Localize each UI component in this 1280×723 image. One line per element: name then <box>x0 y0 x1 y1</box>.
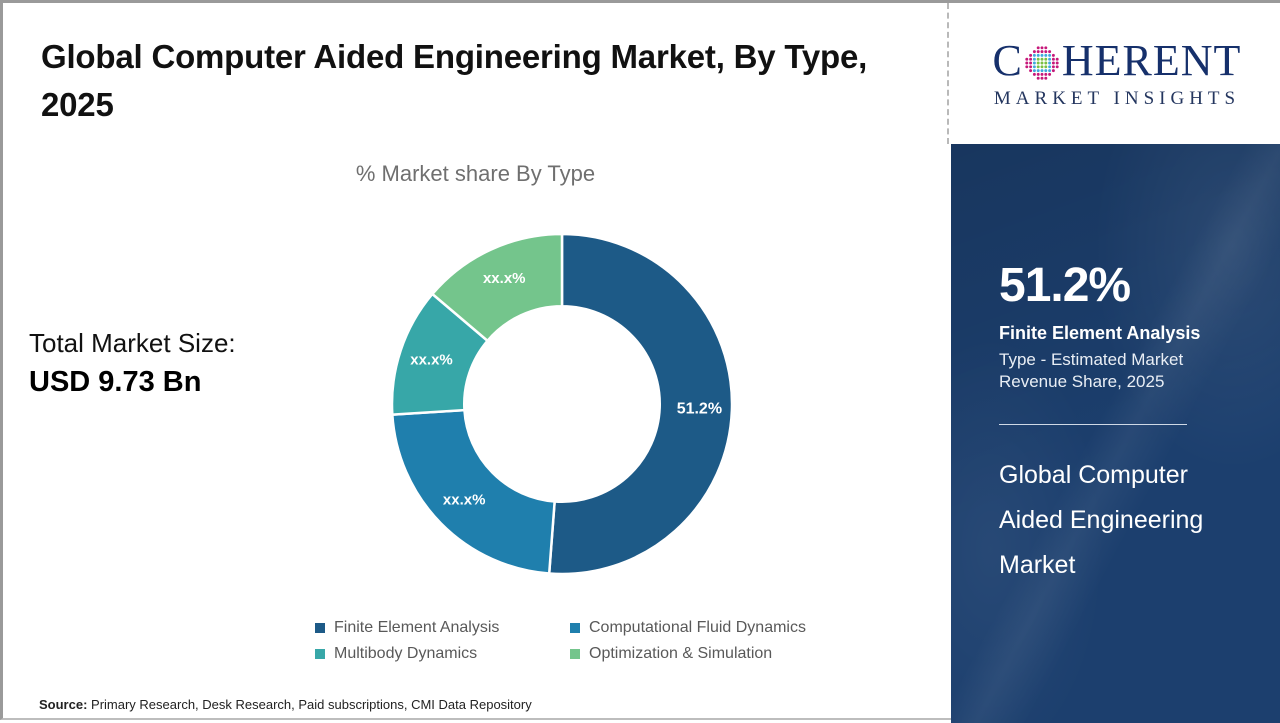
logo-letter-c: C <box>993 39 1023 83</box>
legend-swatch-icon <box>315 649 325 659</box>
stat-description: Type - Estimated Market Revenue Share, 2… <box>999 349 1249 395</box>
logo[interactable]: C HERENT MARKET INSIGHTS <box>951 3 1280 144</box>
legend-swatch-icon <box>570 649 580 659</box>
donut-slice-label: 51.2% <box>677 400 722 417</box>
donut-slice-label: xx.x% <box>443 492 486 509</box>
globe-dots-icon <box>1023 44 1061 82</box>
legend-item-label: Computational Fluid Dynamics <box>589 619 806 637</box>
legend-item[interactable]: Optimization & Simulation <box>570 645 825 663</box>
brand-pane: C HERENT MARKET INSIGHTS 51.2% Finite El… <box>951 3 1280 723</box>
source-label: Source: <box>39 697 87 712</box>
highlight-panel: 51.2% Finite Element Analysis Type - Est… <box>951 144 1280 723</box>
legend-item[interactable]: Finite Element Analysis <box>315 619 570 637</box>
donut-slice-label: xx.x% <box>410 352 453 369</box>
pane-divider <box>947 3 949 144</box>
logo-wordmark: HERENT <box>1062 39 1242 83</box>
page-title: Global Computer Aided Engineering Market… <box>41 33 901 129</box>
legend-item[interactable]: Multibody Dynamics <box>315 645 570 663</box>
legend-item[interactable]: Computational Fluid Dynamics <box>570 619 825 637</box>
legend-item-label: Optimization & Simulation <box>589 645 772 663</box>
legend-item-label: Multibody Dynamics <box>334 645 477 663</box>
logo-tagline: MARKET INSIGHTS <box>971 88 1263 110</box>
infographic-slide: Global Computer Aided Engineering Market… <box>0 0 1280 720</box>
legend-swatch-icon <box>315 623 325 633</box>
donut-chart-svg: 51.2%xx.x%xx.x%xx.x% <box>383 225 741 583</box>
chart-subtitle: % Market share By Type <box>3 161 948 187</box>
legend-item-label: Finite Element Analysis <box>334 619 499 637</box>
chart-pane: Global Computer Aided Engineering Market… <box>3 3 948 717</box>
chart-legend: Finite Element AnalysisComputational Flu… <box>315 619 845 663</box>
stat-name: Finite Element Analysis <box>999 322 1280 345</box>
total-market-size-label: Total Market Size: <box>29 325 329 362</box>
source-text: Primary Research, Desk Research, Paid su… <box>87 697 531 712</box>
donut-slice-label: xx.x% <box>483 270 526 287</box>
donut-chart: 51.2%xx.x%xx.x%xx.x% <box>383 225 741 583</box>
total-market-size: Total Market Size: USD 9.73 Bn <box>29 325 329 403</box>
legend-swatch-icon <box>570 623 580 633</box>
report-title: Global Computer Aided Engineering Market <box>999 453 1229 588</box>
panel-divider-rule <box>999 424 1187 425</box>
source-note: Source: Primary Research, Desk Research,… <box>39 697 532 712</box>
total-market-size-value: USD 9.73 Bn <box>29 362 329 403</box>
stat-value: 51.2% <box>999 262 1280 310</box>
